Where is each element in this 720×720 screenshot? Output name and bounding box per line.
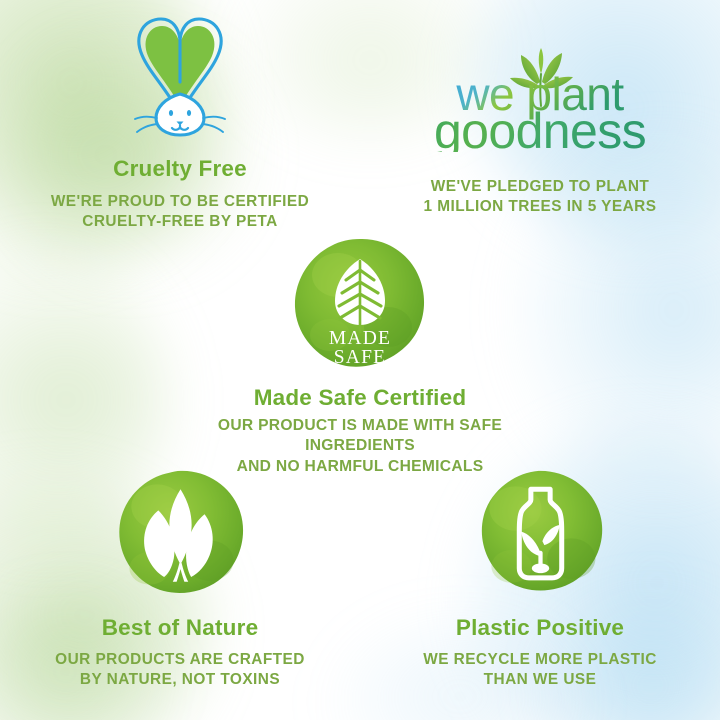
made-safe-certified-badge-icon: MADE SAFE [290, 235, 430, 375]
panel-we-plant-goodness: we plant goodness WE'VE PLEDGED TO PLANT… [372, 40, 708, 218]
we-plant-goodness-logo-icon: we plant goodness [390, 40, 690, 152]
made-safe-icon-slot: MADE SAFE [190, 235, 530, 375]
we-plant-goodness-logo: we plant goodness [372, 40, 708, 152]
we-plant-goodness-description: WE'VE PLEDGED TO PLANT 1 MILLION TREES I… [372, 177, 708, 218]
cruelty-free-title: Cruelty Free [12, 157, 348, 182]
infographic-canvas: Cruelty Free WE'RE PROUD TO BE CERTIFIED… [0, 0, 720, 720]
logo-line-goodness: goodness [434, 103, 646, 152]
panel-cruelty-free: Cruelty Free WE'RE PROUD TO BE CERTIFIED… [12, 14, 348, 232]
best-of-nature-description: OUR PRODUCTS ARE CRAFTED BY NATURE, NOT … [18, 650, 342, 691]
plastic-positive-description: WE RECYCLE MORE PLASTIC THAN WE USE [378, 650, 702, 691]
peta-cruelty-free-bunny-logo-icon [121, 14, 239, 144]
plastic-positive-icon-slot [378, 468, 702, 603]
plastic-positive-bottle-sprout-badge-icon [473, 468, 608, 603]
best-of-nature-icon-slot [18, 468, 342, 603]
best-of-nature-leaves-badge-icon [113, 468, 248, 603]
made-safe-badge-line2: SAFE [334, 347, 386, 368]
made-safe-title: Made Safe Certified [190, 386, 530, 411]
best-of-nature-title: Best of Nature [18, 616, 342, 641]
panel-best-of-nature: Best of Nature OUR PRODUCTS ARE CRAFTED … [18, 468, 342, 690]
cruelty-free-description: WE'RE PROUD TO BE CERTIFIED CRUELTY-FREE… [12, 192, 348, 233]
panel-made-safe: MADE SAFE Made Safe Certified OUR PRODUC… [190, 235, 530, 477]
made-safe-badge-line1: MADE [329, 328, 391, 349]
cruelty-free-icon-slot [12, 14, 348, 144]
panel-plastic-positive: Plastic Positive WE RECYCLE MORE PLASTIC… [378, 468, 702, 690]
plastic-positive-title: Plastic Positive [378, 616, 702, 641]
